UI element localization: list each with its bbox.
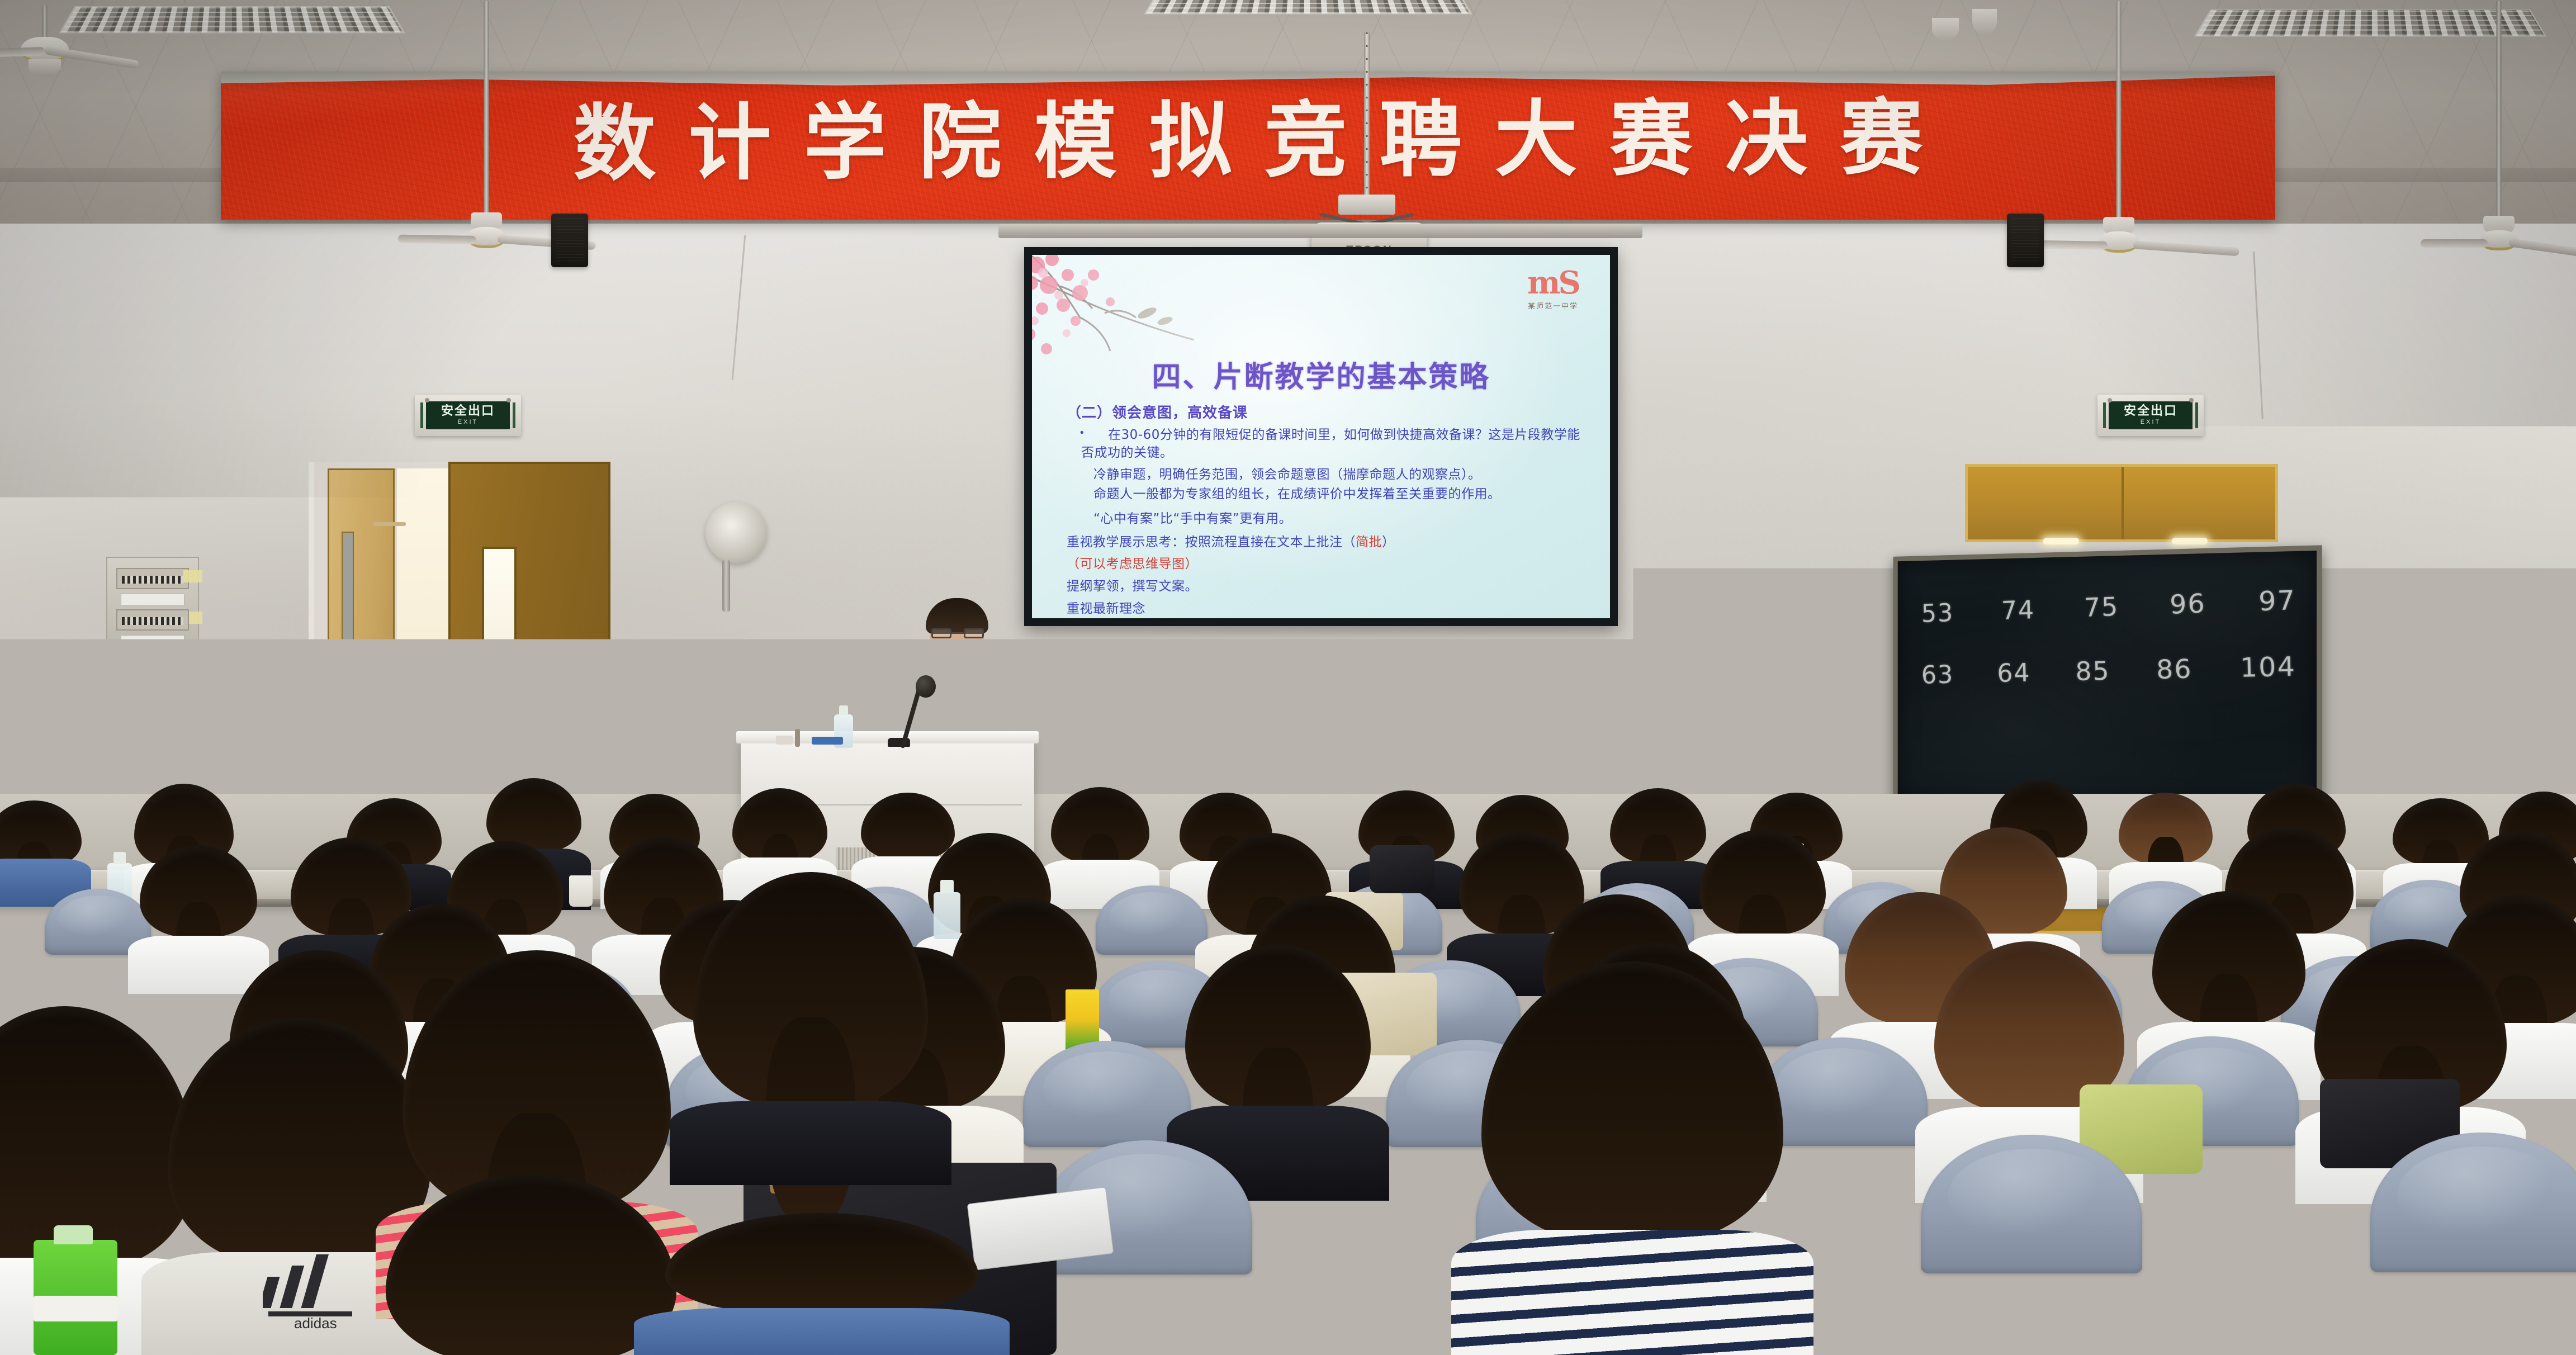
- slide-section-heading: （二）领会意图，高效备课: [1067, 401, 1591, 422]
- slide-paragraph: “心中有案”比“手中有案”更有用。: [1067, 510, 1591, 528]
- socket-cap: [1972, 9, 1997, 35]
- exit-sign-screw: [425, 398, 429, 402]
- door-vision-panel: [342, 532, 354, 671]
- ceiling-fan: [2035, 1, 2203, 264]
- banner-char: 拟: [1149, 100, 1232, 183]
- exit-sign-chinese-label: 安全出口: [2124, 405, 2177, 418]
- ceiling-fan: [402, 1, 570, 258]
- student-top: [670, 1101, 951, 1185]
- banner-char: 模: [1034, 100, 1117, 183]
- banner-char: 数: [574, 102, 656, 186]
- board-lamp: [2172, 538, 2208, 544]
- tote-bag-pattern: [2091, 1235, 2326, 1336]
- breaker-bank: [116, 568, 189, 589]
- cup: [569, 875, 593, 907]
- breaker-switches: [122, 617, 183, 625]
- chalk-number: 86: [2156, 653, 2193, 685]
- student-foreground: [386, 1174, 676, 1355]
- exit-sign-face: 安全出口 EXIT: [2109, 401, 2193, 429]
- chalk-number: 74: [2001, 595, 2035, 626]
- banner-char: 聘: [1380, 98, 1462, 182]
- slide-bullet-wrap: 在30-60分钟的有限短促的备课时间里，如何做到快捷高效备课？这是片段教学能否成…: [1067, 427, 1591, 462]
- chalk-number: 75: [2083, 591, 2119, 623]
- student-hair: [665, 1213, 978, 1314]
- exit-sign-english-label: EXIT: [458, 419, 478, 425]
- banner-char: 赛: [1610, 98, 1693, 181]
- wall-outlet-plate: [253, 663, 276, 689]
- school-logo-subtitle: 某师范一中学: [1519, 300, 1587, 311]
- panel-label: [121, 594, 184, 606]
- student-foreground: [665, 1213, 978, 1355]
- panel-tape: [183, 570, 202, 582]
- projection-screen-frame: mS 某师范一中学 四、片断教学的基本策略 （二）领会意图，高效备课 在30-6…: [1024, 247, 1618, 626]
- student-foreground: [1481, 961, 1783, 1355]
- student-foreground: [693, 872, 928, 1185]
- bottle-band: [34, 1296, 117, 1321]
- svg-text:adidas: adidas: [294, 1315, 337, 1330]
- panel-tape: [189, 612, 202, 624]
- student: [0, 800, 82, 907]
- slide-blue-line: 提纲挈领，撰写文案。: [1067, 578, 1591, 596]
- slide-red-line: （可以考虑思维导图）: [1067, 556, 1591, 574]
- blackboard: 53 74 75 96 97 63 64 85 86 104: [1893, 545, 2322, 813]
- projection-screen-roller: [998, 224, 1642, 238]
- projector-bracket: [1338, 195, 1395, 215]
- slide-highlight-suffix: ）: [1382, 535, 1395, 549]
- chalk-number: 53: [1921, 598, 1954, 628]
- school-logo: mS 某师范一中学: [1519, 268, 1587, 311]
- microphone-icon: [916, 675, 936, 698]
- slide-highlight-red-term: 简批: [1356, 535, 1382, 549]
- troffer-louver-cross: [1146, 0, 1470, 13]
- bottle-cap: [54, 1225, 93, 1244]
- banner-char: 学: [804, 101, 887, 184]
- fan-rod: [2497, 1, 2502, 224]
- slide-paragraph: 冷静审题，明确任务范围，领会命题意图（揣摩命题人的观察点）。: [1067, 466, 1591, 484]
- exit-sign-screw: [2189, 398, 2194, 402]
- podium-item: [776, 736, 793, 745]
- presenter-right-hand: [1041, 739, 1066, 759]
- breaker-switches: [122, 576, 183, 584]
- banner-char: 计: [689, 102, 771, 185]
- adidas-logo-icon: adidas: [263, 1247, 369, 1330]
- cabinet-divider: [2122, 467, 2124, 539]
- banner-char: 竞: [1265, 99, 1347, 182]
- exit-sign-face: 安全出口 EXIT: [426, 401, 510, 429]
- door-handle[interactable]: [373, 522, 406, 526]
- podium-desk-items: [776, 727, 860, 747]
- fan-rod: [2116, 1, 2122, 225]
- panel-label: [121, 635, 184, 647]
- fan-rod: [42, 6, 48, 38]
- projector-mount-rod: [1364, 32, 1370, 200]
- board-lamp: [2043, 538, 2079, 544]
- student-hair: [140, 845, 257, 937]
- chalk-number: 104: [2240, 651, 2296, 683]
- student-hair: [693, 872, 928, 1107]
- exit-sign-bar: [2195, 402, 2198, 428]
- ceiling-fan: [2415, 1, 2576, 264]
- student-hair: [1185, 945, 1371, 1110]
- podium-item: [812, 737, 843, 745]
- fan-rod: [484, 1, 489, 220]
- fan-blade: [2035, 240, 2108, 250]
- slide-highlight-line: 重视教学展示思考：按照流程直接在文本上批注（简批）: [1067, 534, 1591, 552]
- wall-cabinet[interactable]: [1965, 464, 2278, 542]
- exit-sign-bar: [420, 402, 423, 428]
- chalk-number: 63: [1921, 660, 1954, 690]
- student-hair: [2119, 793, 2213, 864]
- student-top: [634, 1308, 1010, 1355]
- exit-sign-screw: [506, 398, 511, 402]
- wall-fan-arm: [722, 560, 730, 612]
- banner-char: 赛: [1840, 97, 1923, 180]
- exit-sign-bar: [513, 402, 515, 428]
- ceiling-light-socket: [1951, 0, 2018, 45]
- door-vision-panel: [482, 547, 517, 709]
- student-top: [1451, 1230, 1813, 1355]
- chalk-number: 85: [2075, 656, 2110, 686]
- slide-paragraph: 在30-60分钟的有限短促的备课时间里，如何做到快捷高效备课？这是片段教学能否成…: [1081, 427, 1591, 462]
- troffer-louver-cross: [61, 7, 403, 32]
- wall-mounted-fan: [705, 502, 767, 563]
- slide-paragraph: 命题人一般都为专家组的组长，在成绩评价中发挥着至关重要的作用。: [1067, 486, 1591, 504]
- handbag: [1370, 845, 1434, 893]
- ceiling-fan: [0, 6, 112, 78]
- exit-sign-screw: [2108, 398, 2112, 402]
- exit-sign-bar: [2103, 402, 2106, 428]
- fan-blade: [398, 235, 476, 244]
- exit-sign-chinese-label: 安全出口: [441, 405, 495, 418]
- chalk-number: 97: [2258, 584, 2296, 617]
- exit-sign-english-label: EXIT: [2141, 419, 2161, 425]
- exit-sign-left: 安全出口 EXIT: [415, 395, 521, 436]
- banner-char: 大: [1495, 98, 1578, 181]
- podium-item: [795, 729, 800, 747]
- handbag: [2342, 1084, 2527, 1202]
- slide-blue-line: 重视最新理念: [1067, 600, 1591, 618]
- fluorescent-troffer: [1144, 0, 1472, 15]
- student-hair: [386, 1174, 676, 1355]
- student-hair: [732, 788, 827, 862]
- wall-speaker-left: [551, 214, 588, 267]
- student-hair: [2152, 891, 2305, 1024]
- student-hair: [1481, 961, 1783, 1241]
- banner-char: 院: [919, 101, 1002, 184]
- electrical-panel: [106, 557, 199, 652]
- school-logo-mark: mS: [1519, 268, 1587, 298]
- glasses-icon: [931, 628, 984, 638]
- student-hair: [1699, 830, 1826, 935]
- breaker-bank: [116, 609, 189, 631]
- student-hair: [0, 800, 82, 868]
- banner-char: 决: [1725, 97, 1808, 181]
- student-hair: [1051, 787, 1149, 863]
- slide-body: （二）领会意图，高效备课 在30-60分钟的有限短促的备课时间里，如何做到快捷高…: [1067, 401, 1591, 618]
- chalk-number: 96: [2170, 588, 2206, 620]
- lecture-hall-photo: 数 计 学 院 模 拟 竞 聘 大 赛 决 赛: [0, 0, 2576, 1355]
- student-hair: [0, 1006, 196, 1269]
- fan-blade: [2421, 239, 2488, 248]
- student-hair: [1610, 788, 1706, 863]
- projection-screen: mS 某师范一中学 四、片断教学的基本策略 （二）领会意图，高效备课 在30-6…: [1032, 255, 1610, 618]
- slide-highlight-prefix: 重视教学展示思考：按照流程直接在文本上批注（: [1067, 535, 1356, 549]
- exit-sign-right: 安全出口 EXIT: [2097, 395, 2204, 436]
- fan-cap: [29, 59, 61, 76]
- fan-blade: [2508, 238, 2576, 258]
- wall-speaker-right: [2007, 214, 2044, 267]
- chalk-number: 64: [1997, 657, 2031, 688]
- slide-title: 四、片断教学的基本策略: [1032, 353, 1610, 395]
